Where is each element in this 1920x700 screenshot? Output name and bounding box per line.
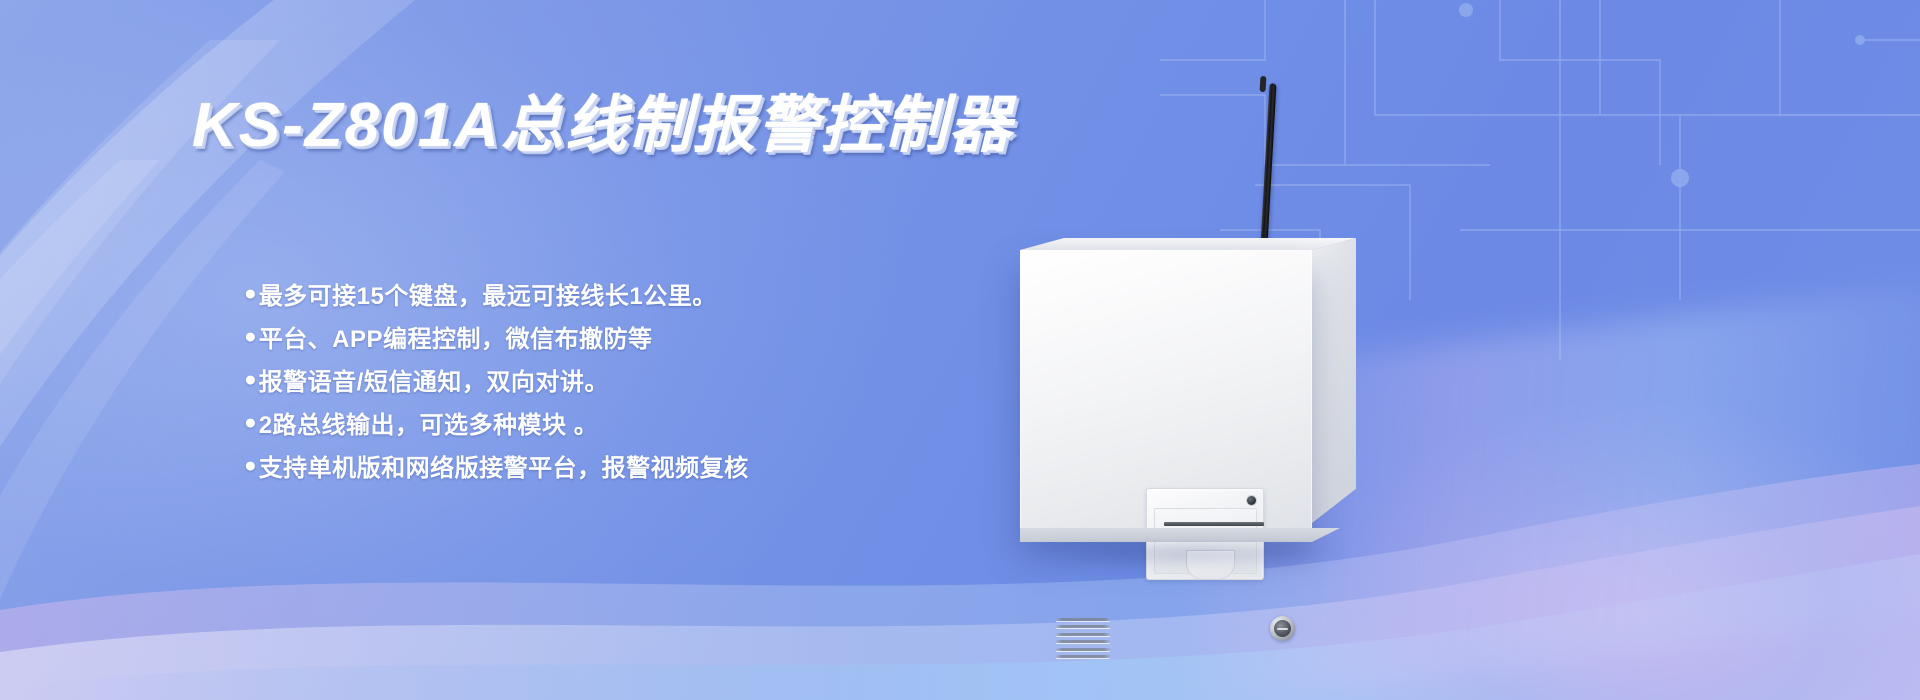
list-item: ● 报警语音/短信通知，双向对讲。 — [244, 358, 749, 401]
list-item: ● 平台、APP编程控制，微信布撤防等 — [244, 315, 749, 358]
list-item: ● 最多可接15个键盘，最远可接线长1公里。 — [244, 272, 749, 315]
vent-slot — [1056, 648, 1110, 651]
feature-text: 报警语音/短信通知，双向对讲。 — [259, 362, 609, 397]
bullet-icon: ● — [244, 369, 257, 390]
paper-slot-icon — [1164, 522, 1264, 526]
feature-text: 平台、APP编程控制，微信布撤防等 — [259, 319, 653, 354]
feature-text: 2路总线输出，可选多种模块 。 — [259, 405, 599, 440]
bullet-icon: ● — [244, 412, 257, 433]
feature-text: 最多可接15个键盘，最远可接线长1公里。 — [259, 276, 717, 311]
lock-cylinder — [1274, 620, 1291, 637]
vent-slot — [1056, 618, 1110, 621]
feature-text: 支持单机版和网络版接警平台，报警视频复核 — [259, 448, 749, 483]
antenna-tip-icon — [1260, 76, 1267, 92]
bullet-icon: ● — [244, 326, 257, 347]
enclosure-side-panel — [1312, 238, 1356, 523]
key-lock-icon — [1270, 616, 1295, 641]
list-item: ● 2路总线输出，可选多种模块 。 — [244, 401, 749, 444]
list-item: ● 支持单机版和网络版接警平台，报警视频复核 — [244, 444, 749, 487]
enclosure-front-panel — [1020, 250, 1312, 535]
vent-slot — [1056, 633, 1110, 636]
status-led-icon — [1247, 496, 1256, 505]
page-title: KS-Z801A总线制报警控制器 — [192, 74, 1013, 164]
product-banner: KS-Z801A总线制报警控制器 ● 最多可接15个键盘，最远可接线长1公里。 … — [0, 0, 1920, 700]
vent-slot — [1056, 655, 1110, 658]
bullet-icon: ● — [244, 455, 257, 476]
feature-list: ● 最多可接15个键盘，最远可接线长1公里。 ● 平台、APP编程控制，微信布撤… — [244, 272, 749, 487]
bullet-icon: ● — [244, 283, 257, 304]
product-shadow — [1026, 546, 1356, 572]
product-image — [1010, 60, 1570, 620]
lock-keyway — [1277, 628, 1288, 630]
ventilation-slots — [1056, 618, 1110, 658]
vent-slot — [1056, 625, 1110, 628]
vent-slot — [1056, 640, 1110, 643]
